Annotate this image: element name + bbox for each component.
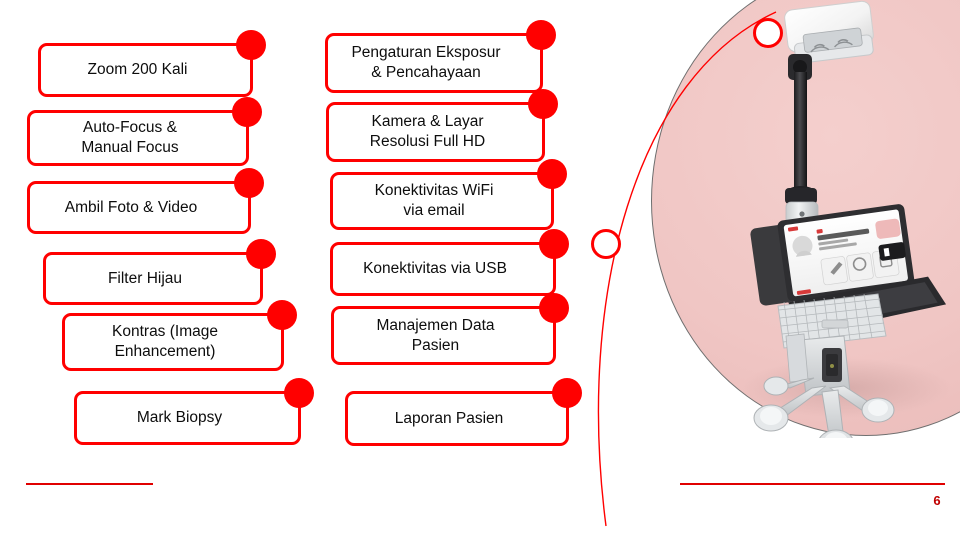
bullet-dot-icon (236, 30, 266, 60)
feature-label: Mark Biopsy (137, 408, 222, 428)
feature-label: Konektivitas WiFi via email (375, 181, 494, 221)
feature-box[interactable]: Manajemen Data Pasien (331, 306, 556, 365)
feature-box[interactable]: Filter Hijau (43, 252, 263, 305)
feature-box[interactable]: Auto-Focus & Manual Focus (27, 110, 249, 166)
bullet-dot-icon (552, 378, 582, 408)
feature-box[interactable]: Mark Biopsy (74, 391, 301, 445)
colposcope-device-image (726, 0, 960, 438)
feature-label: Konektivitas via USB (363, 259, 507, 279)
feature-label: Kontras (Image Enhancement) (112, 322, 218, 362)
feature-label: Ambil Foto & Video (65, 198, 197, 218)
ring-marker-top-icon (753, 18, 783, 48)
feature-box[interactable]: Kontras (Image Enhancement) (62, 313, 284, 371)
feature-box[interactable]: Laporan Pasien (345, 391, 569, 446)
bullet-dot-icon (537, 159, 567, 189)
feature-label: Laporan Pasien (395, 409, 504, 429)
bullet-dot-icon (539, 293, 569, 323)
feature-label: Auto-Focus & Manual Focus (81, 118, 178, 158)
bullet-dot-icon (539, 229, 569, 259)
feature-box[interactable]: Pengaturan Eksposur & Pencahayaan (325, 33, 543, 93)
feature-label: Filter Hijau (108, 269, 182, 289)
page-number: 6 (925, 493, 949, 508)
feature-box[interactable]: Kamera & Layar Resolusi Full HD (326, 102, 545, 162)
feature-label: Zoom 200 Kali (88, 60, 188, 80)
bullet-dot-icon (284, 378, 314, 408)
feature-box[interactable]: Konektivitas via USB (330, 242, 556, 296)
bullet-dot-icon (267, 300, 297, 330)
feature-box[interactable]: Ambil Foto & Video (27, 181, 251, 234)
illustration-area (596, 0, 960, 466)
bullet-dot-icon (528, 89, 558, 119)
footer-rule-left (26, 483, 153, 485)
slide-canvas: Zoom 200 KaliAuto-Focus & Manual FocusAm… (0, 0, 960, 540)
bullet-dot-icon (232, 97, 262, 127)
feature-label: Manajemen Data Pasien (376, 316, 494, 356)
feature-box[interactable]: Zoom 200 Kali (38, 43, 253, 97)
bullet-dot-icon (234, 168, 264, 198)
ring-marker-left-icon (591, 229, 621, 259)
feature-label: Pengaturan Eksposur & Pencahayaan (351, 43, 500, 83)
feature-box[interactable]: Konektivitas WiFi via email (330, 172, 554, 230)
bullet-dot-icon (526, 20, 556, 50)
footer-rule-right (680, 483, 945, 485)
feature-label: Kamera & Layar Resolusi Full HD (370, 112, 485, 152)
bullet-dot-icon (246, 239, 276, 269)
